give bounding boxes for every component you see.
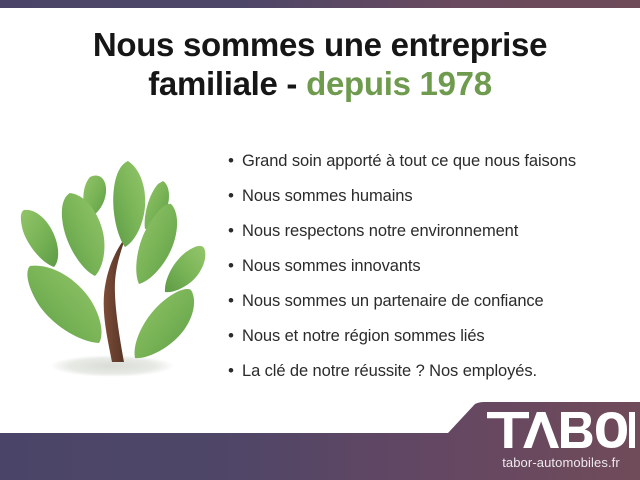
list-item: • Nous sommes un partenaire de confiance bbox=[228, 292, 628, 327]
list-item-label: Nous et notre région sommes liés bbox=[242, 327, 485, 346]
brand-logo bbox=[487, 412, 635, 448]
list-item: • La clé de notre réussite ? Nos employé… bbox=[228, 362, 628, 397]
bullet-marker-icon: • bbox=[228, 257, 242, 274]
list-item: • Nous sommes innovants bbox=[228, 257, 628, 292]
title-line-2: familiale -depuis 1978 bbox=[0, 65, 640, 104]
bullet-list: • Grand soin apporté à tout ce que nous … bbox=[228, 152, 628, 397]
tree-illustration bbox=[8, 148, 218, 393]
tree-icon bbox=[8, 148, 218, 393]
bullet-marker-icon: • bbox=[228, 222, 242, 239]
title-line-2-accent: depuis 1978 bbox=[306, 65, 492, 102]
title-line-1: Nous sommes une entreprise bbox=[0, 26, 640, 65]
bullet-marker-icon: • bbox=[228, 327, 242, 344]
list-item: • Nous et notre région sommes liés bbox=[228, 327, 628, 362]
brand-tagline: tabor-automobiles.fr bbox=[487, 455, 635, 470]
title-line-2-plain: familiale - bbox=[148, 65, 297, 102]
list-item: • Nous respectons notre environnement bbox=[228, 222, 628, 257]
list-item-label: Nous respectons notre environnement bbox=[242, 222, 518, 241]
list-item: • Nous sommes humains bbox=[228, 187, 628, 222]
list-item: • Grand soin apporté à tout ce que nous … bbox=[228, 152, 628, 187]
tree-trunk bbox=[104, 236, 126, 362]
bullet-marker-icon: • bbox=[228, 152, 242, 169]
list-item-label: La clé de notre réussite ? Nos employés. bbox=[242, 362, 537, 381]
top-accent-bar bbox=[0, 0, 640, 8]
list-item-label: Nous sommes humains bbox=[242, 187, 413, 206]
list-item-label: Nous sommes innovants bbox=[242, 257, 421, 276]
list-item-label: Nous sommes un partenaire de confiance bbox=[242, 292, 544, 311]
tabor-wordmark-icon bbox=[487, 412, 635, 448]
bullet-marker-icon: • bbox=[228, 362, 242, 379]
bullet-marker-icon: • bbox=[228, 187, 242, 204]
list-item-label: Grand soin apporté à tout ce que nous fa… bbox=[242, 152, 576, 171]
page-title: Nous sommes une entreprise familiale -de… bbox=[0, 26, 640, 103]
bullet-marker-icon: • bbox=[228, 292, 242, 309]
slide-canvas: Nous sommes une entreprise familiale -de… bbox=[0, 0, 640, 480]
